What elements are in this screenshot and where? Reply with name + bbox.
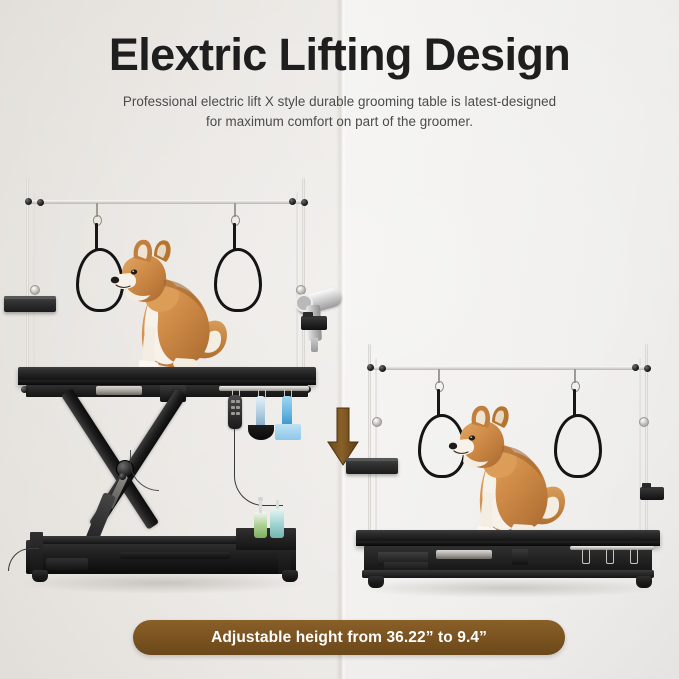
spray-bottle-green-neck	[259, 501, 262, 513]
arm-post-left-r	[368, 344, 371, 540]
foot-pedal	[46, 558, 88, 570]
slicker-brush-handle	[282, 396, 292, 426]
post-collar-left-r	[372, 417, 382, 427]
hair-dryer-holder-clamp	[301, 316, 327, 330]
remote-button-4	[236, 406, 240, 409]
left-table-ground-shadow	[18, 572, 308, 594]
tool-hook-r2	[606, 549, 614, 564]
spray-bottle-teal-neck	[276, 500, 279, 509]
remote-button-2	[236, 400, 240, 403]
slicker-brush-head	[275, 424, 301, 440]
arm-knob-left-outer	[25, 198, 32, 205]
page-title: Elextric Lifting Design	[0, 0, 679, 79]
arm-knob-right-outer-r	[644, 365, 651, 372]
clamp-band-top	[303, 312, 313, 317]
dog-left-shiba-inu	[110, 228, 232, 373]
right-table-ground-shadow	[352, 578, 664, 598]
actuator-upper-pin	[119, 473, 126, 480]
header-block: Elextric Lifting Design Professional ele…	[0, 0, 679, 132]
arm-post-right-rail-r	[639, 358, 641, 540]
remote-button-3	[231, 406, 235, 409]
product-feature-image: Elextric Lifting Design Professional ele…	[0, 0, 679, 679]
post-collar-left	[30, 285, 40, 295]
adjustable-height-text: Adjustable height from 36.22” to 9.4”	[211, 629, 487, 647]
overhead-crossbar-r	[372, 366, 648, 370]
deshedding-tool-handle	[256, 396, 265, 428]
spray-bottle-green	[254, 512, 267, 538]
arm-post-right	[302, 178, 305, 378]
noose-d-cord	[573, 389, 576, 417]
slide-rail-panel-right	[436, 550, 492, 559]
remote-cord	[234, 429, 283, 506]
arm-knob-right-outer	[301, 199, 308, 206]
arm-knob-right-inner	[289, 198, 296, 205]
accessory-tray-lip	[4, 296, 56, 299]
apron-knob-left	[21, 386, 28, 393]
remote-control	[228, 395, 242, 429]
control-box-right	[512, 549, 528, 565]
subtitle-line-1: Professional electric lift X style durab…	[123, 94, 556, 109]
overhead-crossbar	[30, 200, 305, 204]
arm-knob-left-inner	[37, 199, 44, 206]
base-rail-inner	[120, 552, 230, 559]
accessory-tray-right-panel	[346, 458, 398, 474]
adjustable-height-banner: Adjustable height from 36.22” to 9.4”	[133, 620, 565, 655]
arm-post-left	[26, 178, 29, 378]
remote-button-6	[236, 412, 240, 415]
noose-c-cord	[437, 389, 440, 417]
accessory-tray-left-panel	[4, 296, 56, 312]
remote-button-1	[231, 400, 235, 403]
tool-hook-r3	[630, 549, 638, 564]
subtitle-line-2: for maximum comfort on part of the groom…	[206, 114, 473, 129]
arm-post-left-rail-r	[375, 358, 377, 540]
tool-hook-r1	[582, 549, 590, 564]
dog-right-shiba-inu	[448, 394, 570, 539]
arm-post-right-r	[645, 344, 648, 540]
tabletop-left	[18, 367, 316, 385]
spray-bottle-green-cap	[258, 497, 263, 501]
noose-b-cord	[233, 223, 236, 251]
accessory-tray-lip-r	[346, 458, 398, 461]
post-collar-right-r	[639, 417, 649, 427]
noose-a-cord	[95, 223, 98, 251]
slide-rail-panel	[96, 386, 142, 395]
tabletop-right	[356, 530, 660, 546]
clamp-band-top-r	[642, 483, 651, 488]
base-rail-right	[362, 570, 654, 578]
remote-button-5	[231, 412, 235, 415]
hair-dryer-tip	[311, 338, 318, 352]
spray-bottle-teal	[270, 508, 284, 538]
empty-holder-clamp	[640, 487, 664, 500]
arm-knob-left-inner-r	[379, 365, 386, 372]
arm-knob-left-outer-r	[367, 364, 374, 371]
arm-knob-right-inner-r	[632, 364, 639, 371]
page-subtitle: Professional electric lift X style durab…	[0, 79, 679, 133]
